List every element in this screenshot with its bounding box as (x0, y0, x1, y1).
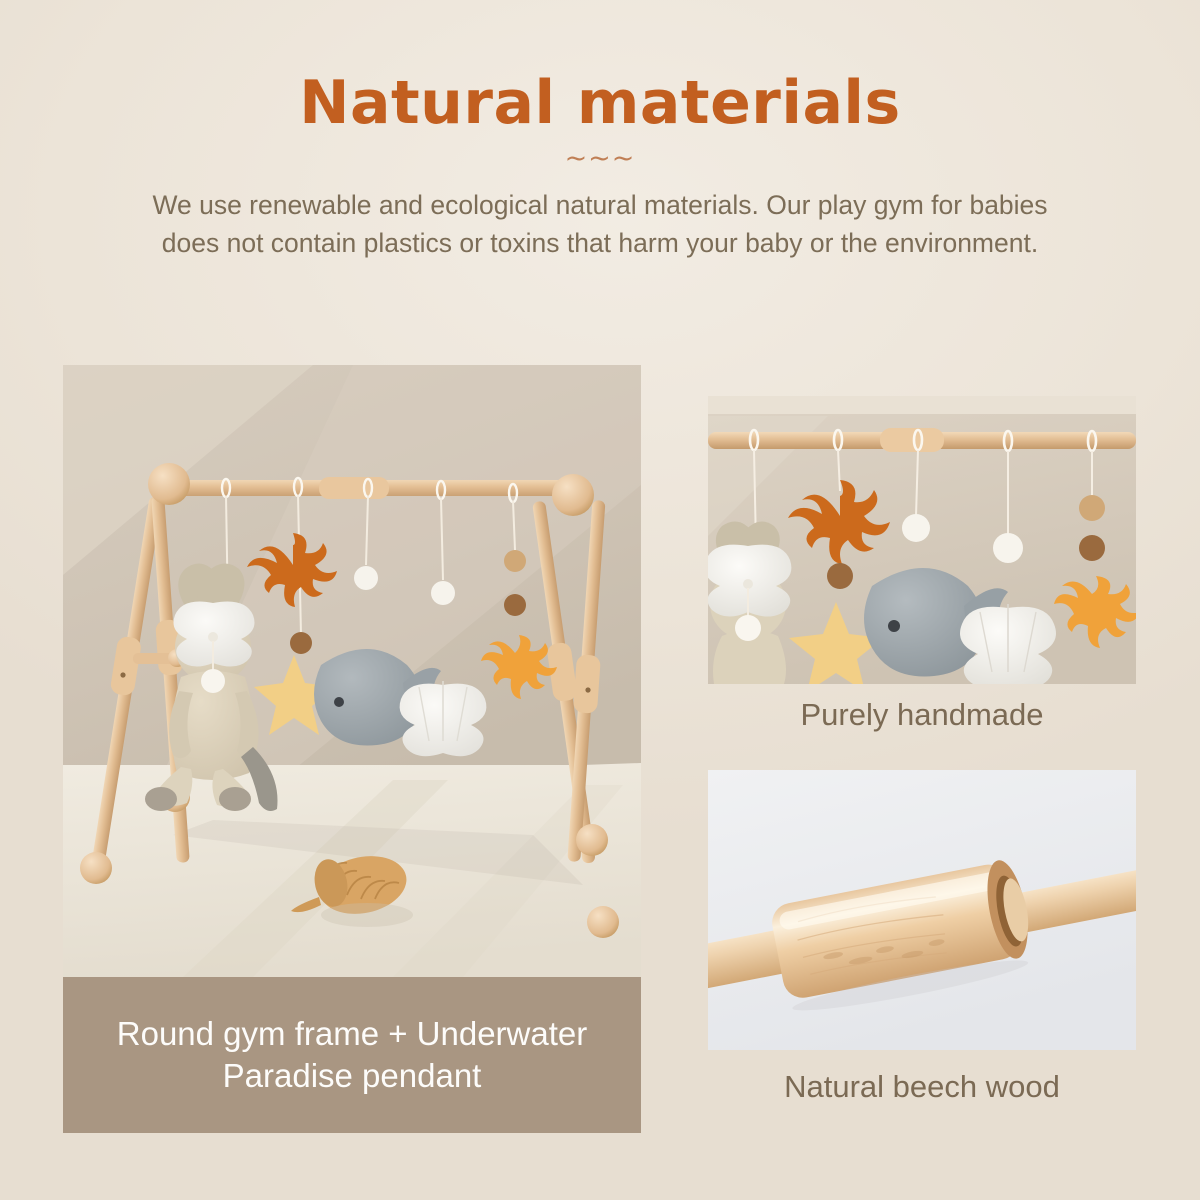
photo-handmade-pendants (708, 396, 1136, 684)
handmade-felt-ball-white-2 (993, 533, 1023, 563)
page-title: Natural materials (0, 0, 1200, 135)
handmade-bunny-shell (708, 545, 791, 617)
caption-main-text: Round gym frame + Underwater Paradise pe… (63, 1013, 641, 1096)
handmade-felt-ball-brown (827, 563, 853, 589)
playgym-scene-illustration (63, 365, 641, 977)
handmade-scene-illustration (708, 396, 1136, 684)
felt-ball-brown (290, 632, 312, 654)
caption-main-panel: Round gym frame + Underwater Paradise pe… (63, 977, 641, 1133)
infographic-page: Natural materials ~~~ We use renewable a… (0, 0, 1200, 1200)
photo-beech-wood (708, 770, 1136, 1050)
caption-handmade-text: Purely handmade (801, 696, 1044, 733)
caption-beech-text: Natural beech wood (784, 1068, 1060, 1105)
felt-ball-white-2 (431, 581, 455, 605)
handmade-felt-ball-white (902, 514, 930, 542)
photo-main-playgym (63, 365, 641, 977)
handmade-felt-ball-tan (1079, 495, 1105, 521)
felt-ball-tan (504, 550, 526, 572)
squiggle-divider: ~~~ (0, 145, 1200, 172)
pendant-white-shell (400, 681, 487, 756)
felt-ball-brown-2 (504, 594, 526, 616)
header: Natural materials ~~~ We use renewable a… (0, 0, 1200, 263)
caption-beech-panel: Natural beech wood (708, 1052, 1136, 1122)
header-subtitle: We use renewable and ecological natural … (145, 186, 1055, 263)
handmade-felt-ball-brown-2 (1079, 535, 1105, 561)
caption-handmade-panel: Purely handmade (708, 684, 1136, 746)
beech-wood-illustration (708, 770, 1136, 1050)
handmade-white-shell (960, 604, 1056, 684)
felt-ball-white (354, 566, 378, 590)
handmade-bunny-corner (708, 522, 791, 685)
